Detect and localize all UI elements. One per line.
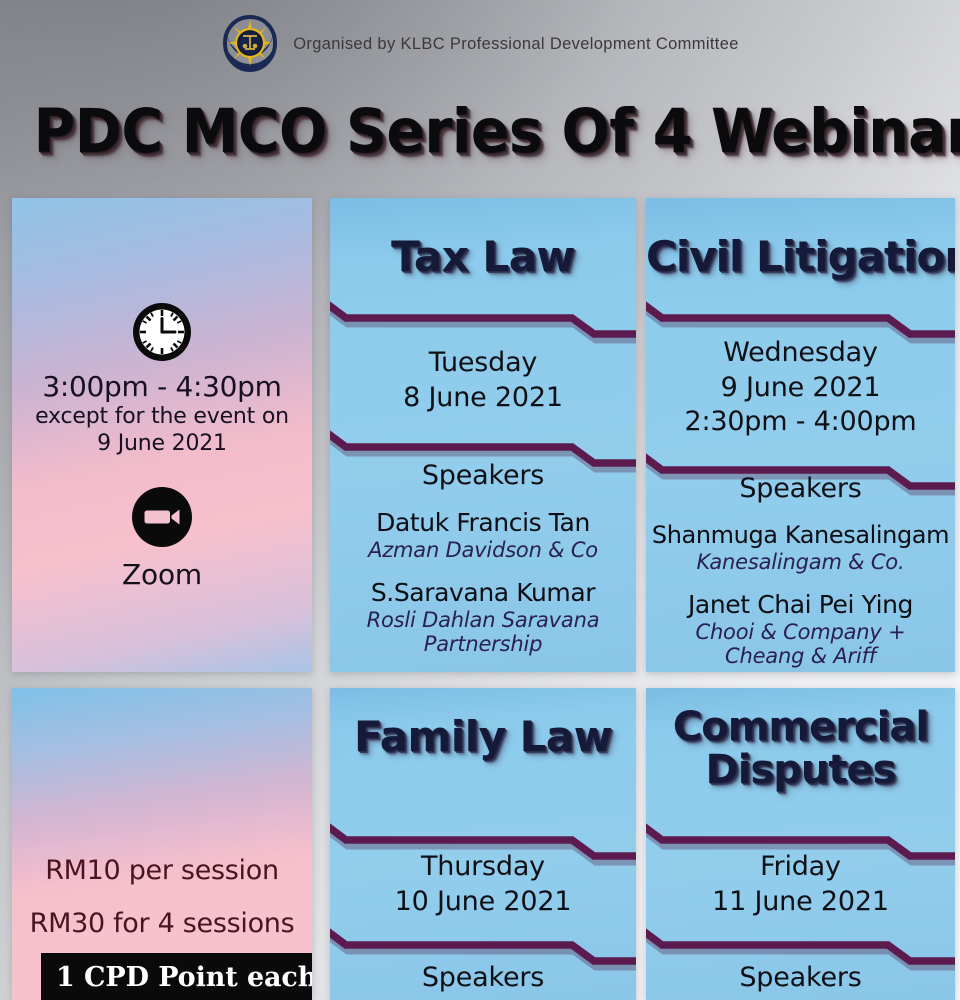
cpd-badge: 1 CPD Point each <box>41 953 312 1000</box>
speaker-firm: Kanesalingam & Co. <box>646 550 955 574</box>
price-per-session: RM10 per session <box>12 845 312 898</box>
session-day: Tuesday <box>330 346 636 381</box>
speakers-label: Speakers <box>646 962 955 994</box>
session-topic-title: Civil Litigation <box>646 236 955 278</box>
panel-grid: 3:00pm - 4:30pm except for the event on … <box>0 198 960 1000</box>
session-date: 11 June 2021 <box>646 885 955 920</box>
price-block: RM10 per session RM30 for 4 sessions <box>12 845 312 950</box>
session-speakers-block: Speakers <box>646 962 955 994</box>
session-date-block: Thursday 10 June 2021 <box>330 850 636 919</box>
session-topic-title: Tax Law <box>330 236 636 278</box>
session-date: 10 June 2021 <box>330 885 636 920</box>
speakers-label: Speakers <box>330 962 636 994</box>
session-date: 8 June 2021 <box>330 381 636 416</box>
page-title: PDC MCO Series Of 4 Webinars <box>34 96 927 167</box>
session-speakers-block: Speakers Datuk Francis Tan Azman Davidso… <box>330 460 636 656</box>
speaker-name: S.Saravana Kumar <box>330 578 636 608</box>
time-main: 3:00pm - 4:30pm <box>12 370 312 403</box>
clock-icon <box>131 301 193 363</box>
session-day: Friday <box>646 850 955 885</box>
session-card-commercial-disputes: Commercial Disputes Friday 11 June 2021 … <box>646 688 955 1000</box>
zigzag-divider <box>330 294 636 340</box>
session-topic-title: Family Law <box>330 716 636 758</box>
zigzag-divider <box>646 294 955 340</box>
speaker-name: Shanmuga Kanesalingam <box>646 521 955 549</box>
price-bundle: RM30 for 4 sessions <box>12 898 312 951</box>
zigzag-divider <box>646 921 955 967</box>
speaker-firm: Chooi & Company + Cheang & Ariff <box>646 620 955 669</box>
speakers-label: Speakers <box>330 460 636 492</box>
video-camera-icon <box>131 486 193 548</box>
session-date: 9 June 2021 <box>646 371 955 406</box>
time-block: 3:00pm - 4:30pm except for the event on … <box>12 370 312 458</box>
session-date-block: Wednesday 9 June 2021 2:30pm - 4:00pm <box>646 336 955 440</box>
speaker-name: Datuk Francis Tan <box>330 508 636 538</box>
klbc-crest-icon <box>221 13 279 75</box>
time-exception-line2: 9 June 2021 <box>12 430 312 457</box>
zigzag-divider <box>330 921 636 967</box>
spacer <box>330 562 636 578</box>
speaker-firm: Azman Davidson & Co <box>330 538 636 562</box>
session-card-tax-law: Tax Law Tuesday 8 June 2021 Speakers <box>330 198 636 672</box>
session-speakers-block: Speakers <box>330 962 636 994</box>
session-card-family-law: Family Law Thursday 10 June 2021 Speaker… <box>330 688 636 1000</box>
spacer <box>646 574 955 590</box>
schedule-info-panel: 3:00pm - 4:30pm except for the event on … <box>12 198 312 672</box>
poster-canvas: Organised by KLBC Professional Developme… <box>0 0 960 1000</box>
speaker-name: Janet Chai Pei Ying <box>646 590 955 620</box>
speakers-label: Speakers <box>646 473 955 505</box>
session-topic-title: Commercial Disputes <box>646 706 955 792</box>
spacer <box>330 492 636 508</box>
zoom-label: Zoom <box>12 558 312 591</box>
pricing-panel: RM10 per session RM30 for 4 sessions 1 C… <box>12 688 312 1000</box>
session-speakers-block: Speakers Shanmuga Kanesalingam Kanesalin… <box>646 473 955 668</box>
session-time: 2:30pm - 4:00pm <box>646 405 955 440</box>
session-date-block: Tuesday 8 June 2021 <box>330 346 636 415</box>
speaker-firm: Rosli Dahlan Saravana Partnership <box>330 608 636 657</box>
spacer <box>646 505 955 521</box>
session-day: Thursday <box>330 850 636 885</box>
session-card-civil-litigation: Civil Litigation Wednesday 9 June 2021 2… <box>646 198 955 672</box>
organiser-text: Organised by KLBC Professional Developme… <box>293 35 739 54</box>
time-exception-line1: except for the event on <box>12 403 312 430</box>
poster-header: Organised by KLBC Professional Developme… <box>0 0 960 88</box>
session-day: Wednesday <box>646 336 955 371</box>
session-date-block: Friday 11 June 2021 <box>646 850 955 919</box>
